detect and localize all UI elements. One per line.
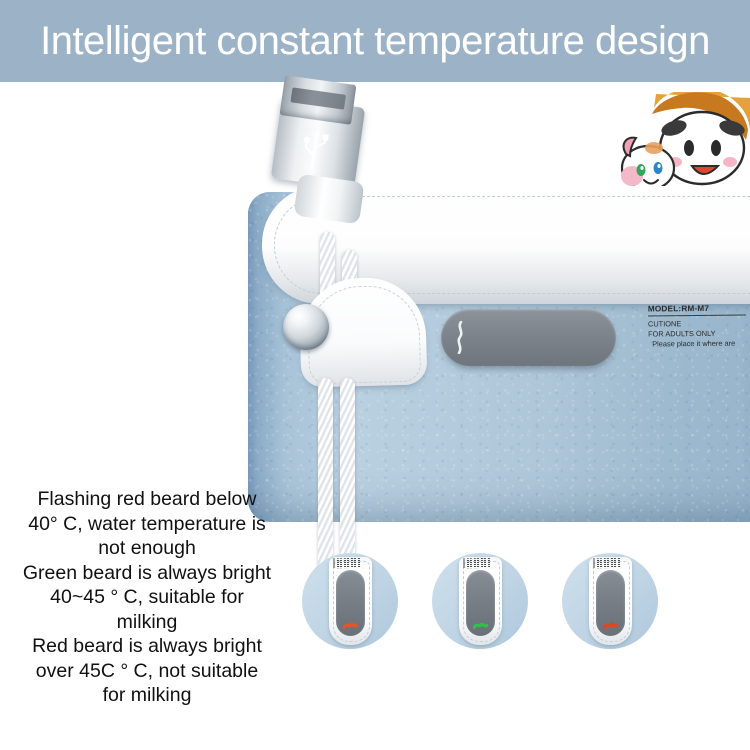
spec-caution-line-2: Please place it where are: [648, 338, 750, 349]
state-thumbnail-steady-green: [432, 553, 528, 649]
steady-green-indicator: [473, 621, 488, 630]
state-thumbnail-flashing-red: [302, 553, 398, 649]
description-line: Red beard is always bright: [6, 634, 288, 659]
thumbnail-microtext: [593, 558, 629, 570]
description-line: over 45C ° C, not suitable: [6, 659, 288, 684]
header-banner: Intelligent constant temperature design: [0, 0, 750, 82]
description-line: for milking: [6, 683, 288, 708]
banner-title: Intelligent constant temperature design: [40, 19, 710, 64]
control-module[interactable]: [441, 309, 616, 366]
snap-button-icon[interactable]: [283, 304, 329, 350]
description-line: Green beard is always bright: [6, 561, 288, 586]
description-line: 40~45 ° C, suitable for: [6, 585, 288, 610]
description-line: not enough: [6, 536, 288, 561]
state-thumbnail-steady-red: [562, 553, 658, 649]
spec-model-text: MODEL:RM-M7: [648, 303, 750, 313]
description-line: milking: [6, 610, 288, 635]
usb-strain-relief: [293, 174, 364, 225]
spec-divider: [648, 315, 746, 317]
flashing-red-indicator: [343, 621, 358, 630]
thumbnail-microtext: [333, 558, 369, 570]
product-marketing-image: Intelligent constant temperature design: [0, 0, 750, 750]
description-line: 40° C, water temperature is: [6, 512, 288, 537]
cartoon-cow-icon: [596, 92, 750, 190]
indicator-description: Flashing red beard below 40° C, water te…: [6, 487, 288, 708]
spec-label: MODEL:RM-M7 CUTIONE FOR ADULTS ONLY Plea…: [648, 303, 750, 348]
description-line: Flashing red beard below: [6, 487, 288, 512]
indicator-led-slot: [455, 321, 466, 354]
thumbnail-microtext: [463, 558, 499, 570]
steady-red-indicator: [603, 621, 618, 630]
